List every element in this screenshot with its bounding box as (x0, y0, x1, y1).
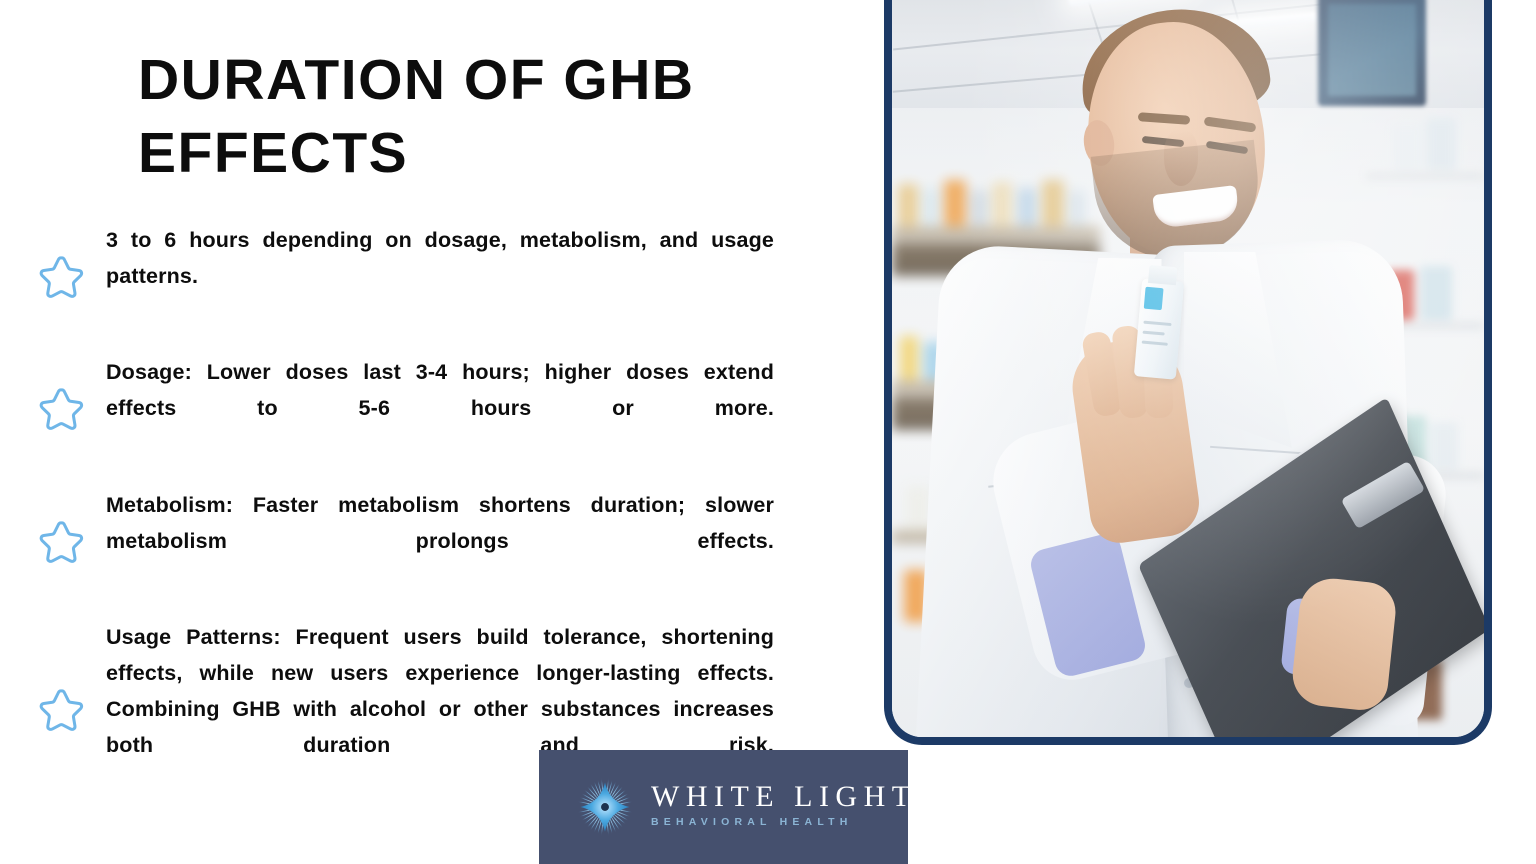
pharmacist-photo-frame (884, 0, 1492, 745)
list-item-text: Metabolism: Faster metabolism shortens d… (106, 487, 774, 595)
star-outline-icon (38, 517, 86, 565)
list-item: Metabolism: Faster metabolism shortens d… (0, 487, 880, 595)
infographic-slide: DURATION OF GHB EFFECTS 3 to 6 hours dep… (0, 0, 1536, 864)
hand-holding-clipboard (1290, 575, 1399, 712)
list-item-text: Dosage: Lower doses last 3-4 hours; high… (106, 354, 774, 462)
star-outline-icon (38, 252, 86, 300)
brand-name: WHITE LIGHT (651, 781, 917, 813)
brand-wordmark: WHITE LIGHT BEHAVIORAL HEALTH (651, 781, 917, 833)
brand-tagline: BEHAVIORAL HEALTH (651, 817, 917, 829)
starburst-compass-icon (569, 771, 641, 843)
medicine-bottle (1134, 278, 1184, 379)
star-outline-icon (38, 384, 86, 432)
content-column: DURATION OF GHB EFFECTS 3 to 6 hours dep… (0, 0, 880, 864)
brand-logo-bar: WHITE LIGHT BEHAVIORAL HEALTH (539, 750, 908, 864)
pharmacist-reading-medicine-bottle-photo (892, 0, 1484, 737)
list-item: Dosage: Lower doses last 3-4 hours; high… (0, 354, 880, 462)
page-title: DURATION OF GHB EFFECTS (138, 44, 838, 190)
pharmacist-figure (892, 0, 1484, 737)
list-item-text: 3 to 6 hours depending on dosage, metabo… (106, 222, 774, 330)
list-item: 3 to 6 hours depending on dosage, metabo… (0, 222, 880, 330)
bullet-list: 3 to 6 hours depending on dosage, metabo… (0, 222, 880, 824)
star-outline-icon (38, 685, 86, 733)
